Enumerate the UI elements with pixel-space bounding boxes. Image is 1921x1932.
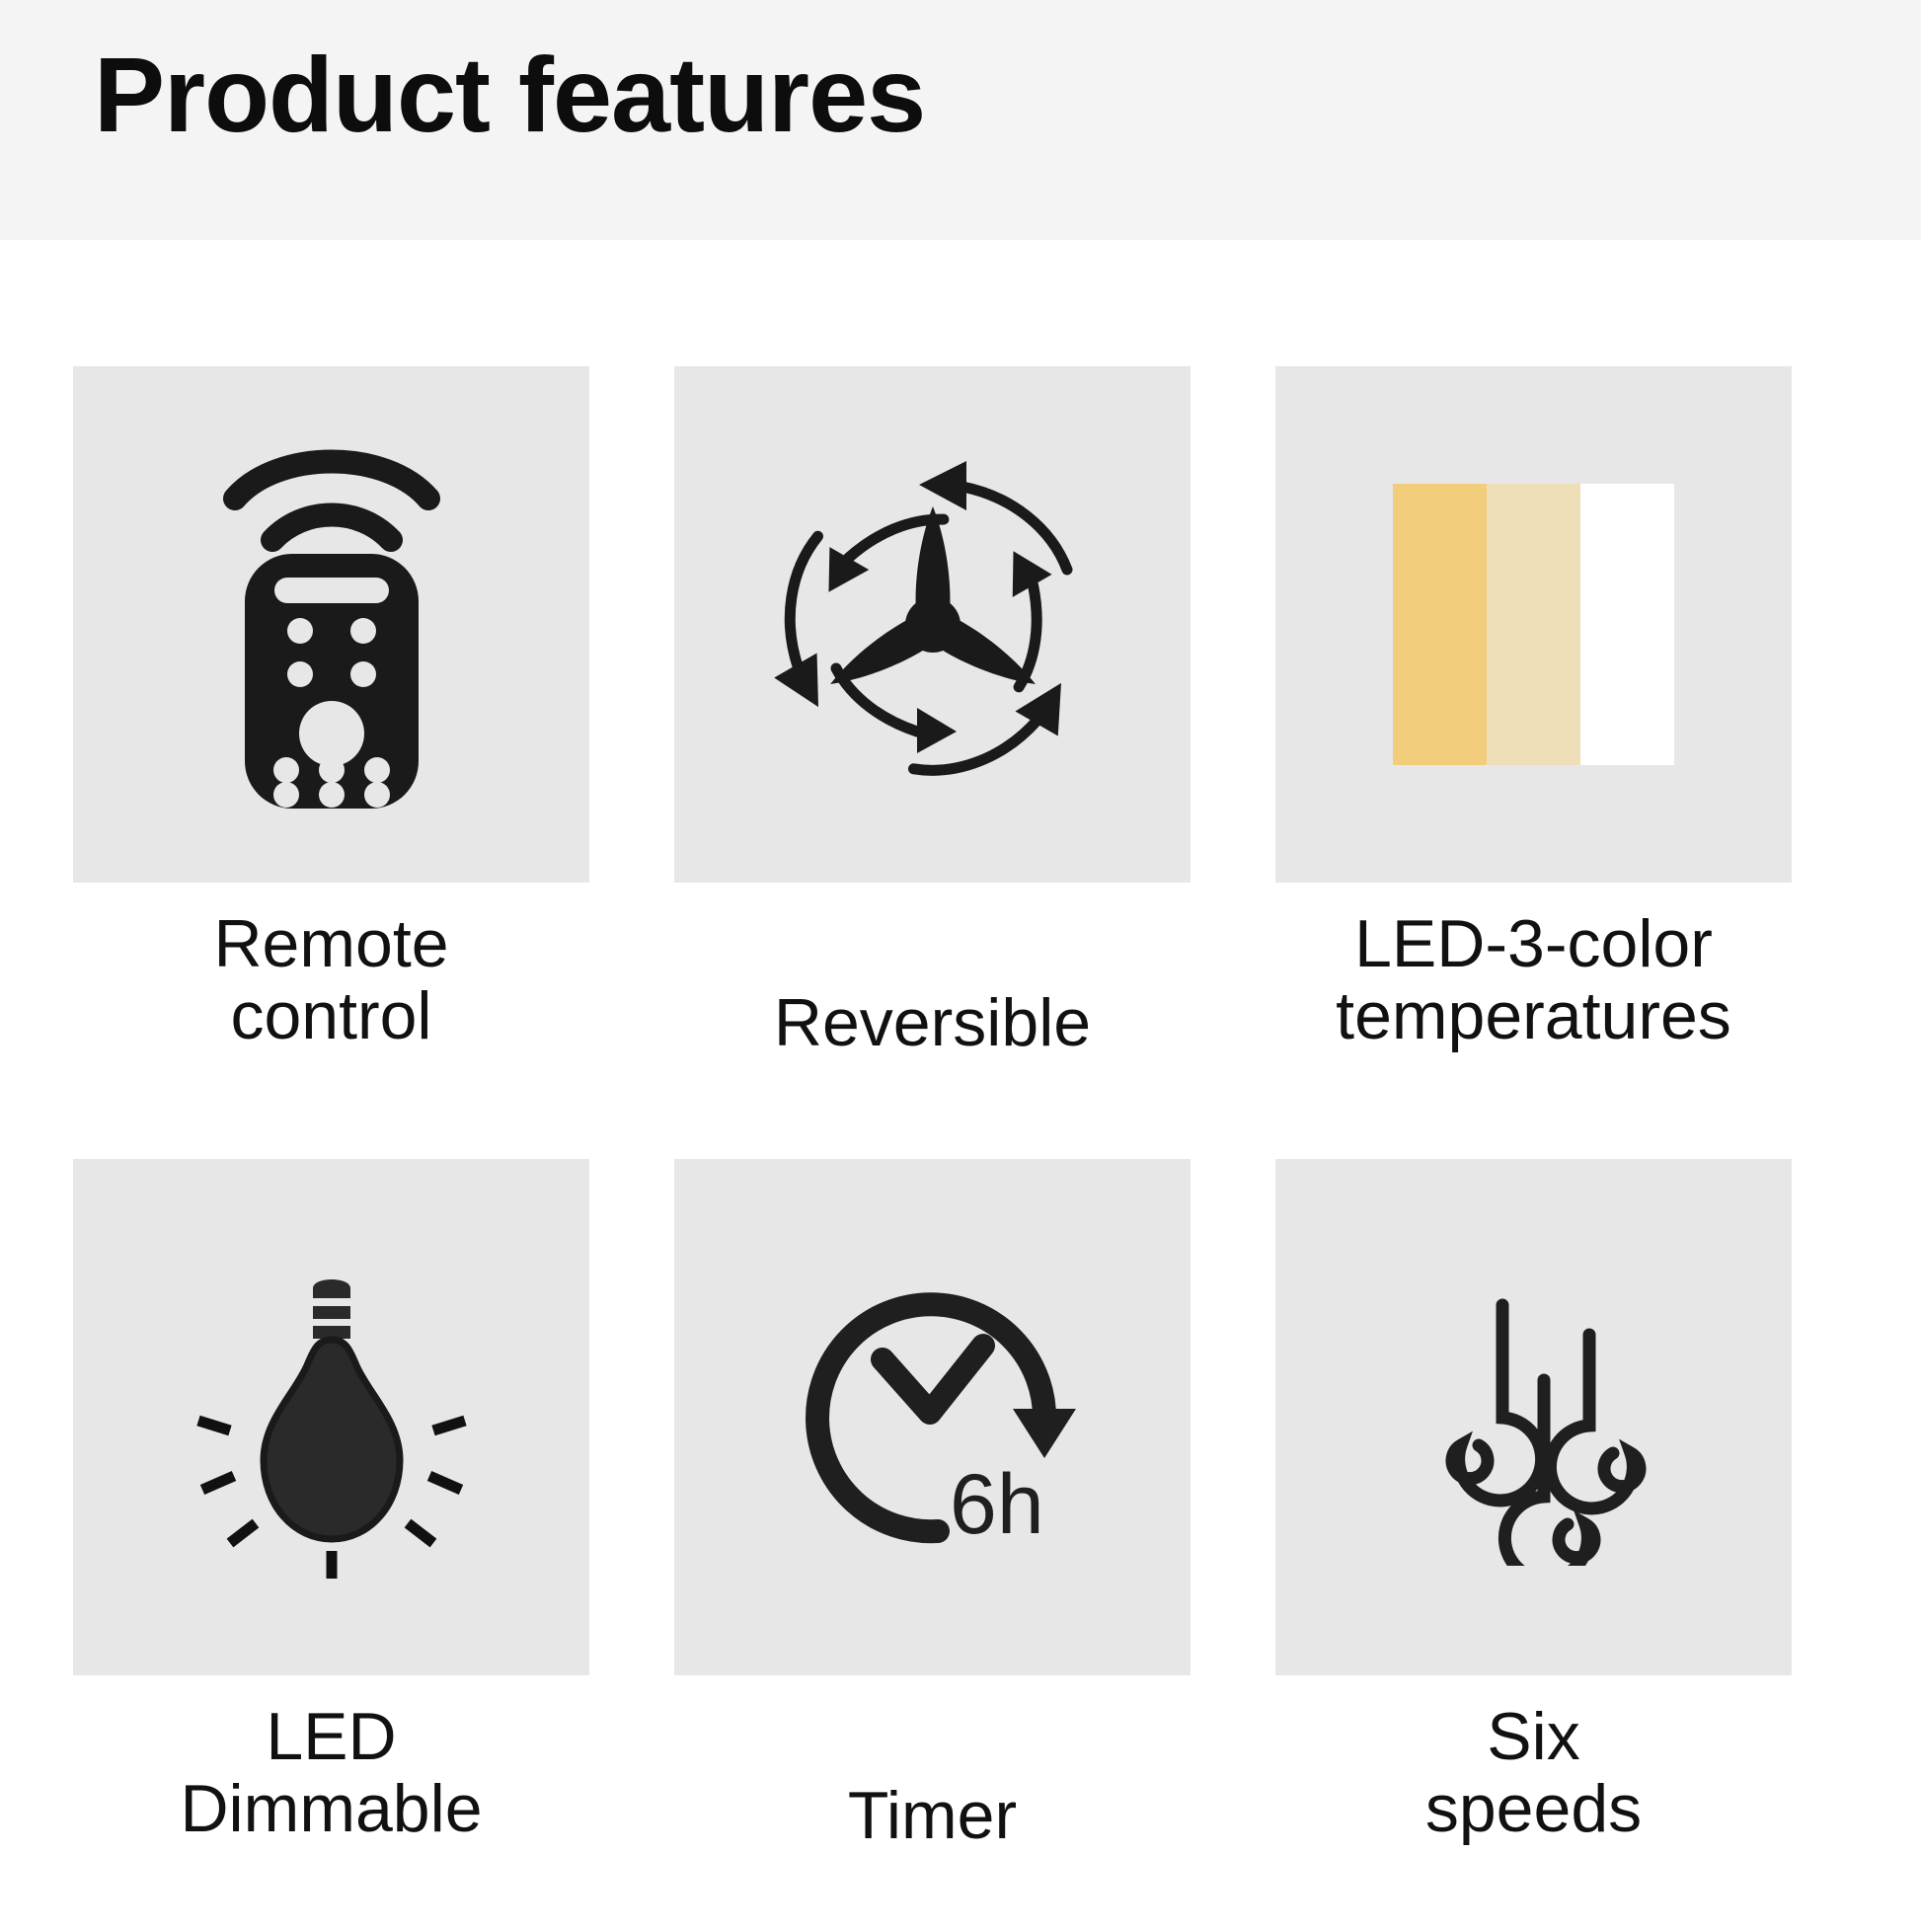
header-band: Product features bbox=[0, 0, 1921, 240]
icon-tile-reversible bbox=[674, 366, 1191, 883]
label-slot-led-color-temperatures: LED-3-color temperatures bbox=[1275, 883, 1792, 1139]
row-spacer bbox=[73, 1139, 1850, 1159]
swatch-natural-white bbox=[1487, 484, 1580, 765]
label-slot-timer: Timer bbox=[674, 1675, 1191, 1932]
remote-control-icon bbox=[184, 437, 480, 812]
feature-cell-reversible[interactable]: Reversible bbox=[674, 366, 1191, 1139]
feature-row-2: LED Dimmable 6h bbox=[73, 1159, 1850, 1932]
icon-tile-remote-control bbox=[73, 366, 589, 883]
feature-cell-led-color-temperatures[interactable]: LED-3-color temperatures bbox=[1275, 366, 1792, 1139]
label-slot-remote-control: Remote control bbox=[73, 883, 589, 1139]
icon-tile-led-dimmable bbox=[73, 1159, 589, 1675]
feature-cell-led-dimmable[interactable]: LED Dimmable bbox=[73, 1159, 589, 1932]
light-bulb-icon bbox=[169, 1255, 495, 1581]
icon-tile-six-speeds bbox=[1275, 1159, 1792, 1675]
feature-label-led-dimmable: LED Dimmable bbox=[73, 1701, 589, 1846]
timer-icon: 6h bbox=[780, 1275, 1086, 1561]
page-title: Product features bbox=[94, 34, 925, 156]
label-slot-six-speeds: Six speeds bbox=[1275, 1675, 1792, 1932]
airflow-speeds-icon bbox=[1386, 1270, 1682, 1566]
feature-label-remote-control: Remote control bbox=[73, 908, 589, 1053]
feature-cell-remote-control[interactable]: Remote control bbox=[73, 366, 589, 1139]
swatch-warm-white bbox=[1393, 484, 1487, 765]
feature-label-led-color-temperatures: LED-3-color temperatures bbox=[1275, 908, 1792, 1053]
feature-label-six-speeds: Six speeds bbox=[1275, 1701, 1792, 1846]
feature-cell-six-speeds[interactable]: Six speeds bbox=[1275, 1159, 1792, 1932]
label-slot-reversible: Reversible bbox=[674, 883, 1191, 1139]
feature-grid: Remote control bbox=[73, 366, 1850, 1932]
feature-cell-timer[interactable]: 6h Timer bbox=[674, 1159, 1191, 1932]
reversible-fan-icon bbox=[755, 447, 1111, 803]
feature-row-1: Remote control bbox=[73, 366, 1850, 1139]
feature-label-reversible: Reversible bbox=[674, 987, 1191, 1059]
icon-tile-led-color-temperatures bbox=[1275, 366, 1792, 883]
timer-badge-text: 6h bbox=[950, 1457, 1044, 1552]
feature-label-timer: Timer bbox=[674, 1780, 1191, 1852]
swatch-cool-white bbox=[1580, 484, 1674, 765]
label-slot-led-dimmable: LED Dimmable bbox=[73, 1675, 589, 1932]
color-temperature-swatch-icon bbox=[1393, 484, 1674, 765]
icon-tile-timer: 6h bbox=[674, 1159, 1191, 1675]
